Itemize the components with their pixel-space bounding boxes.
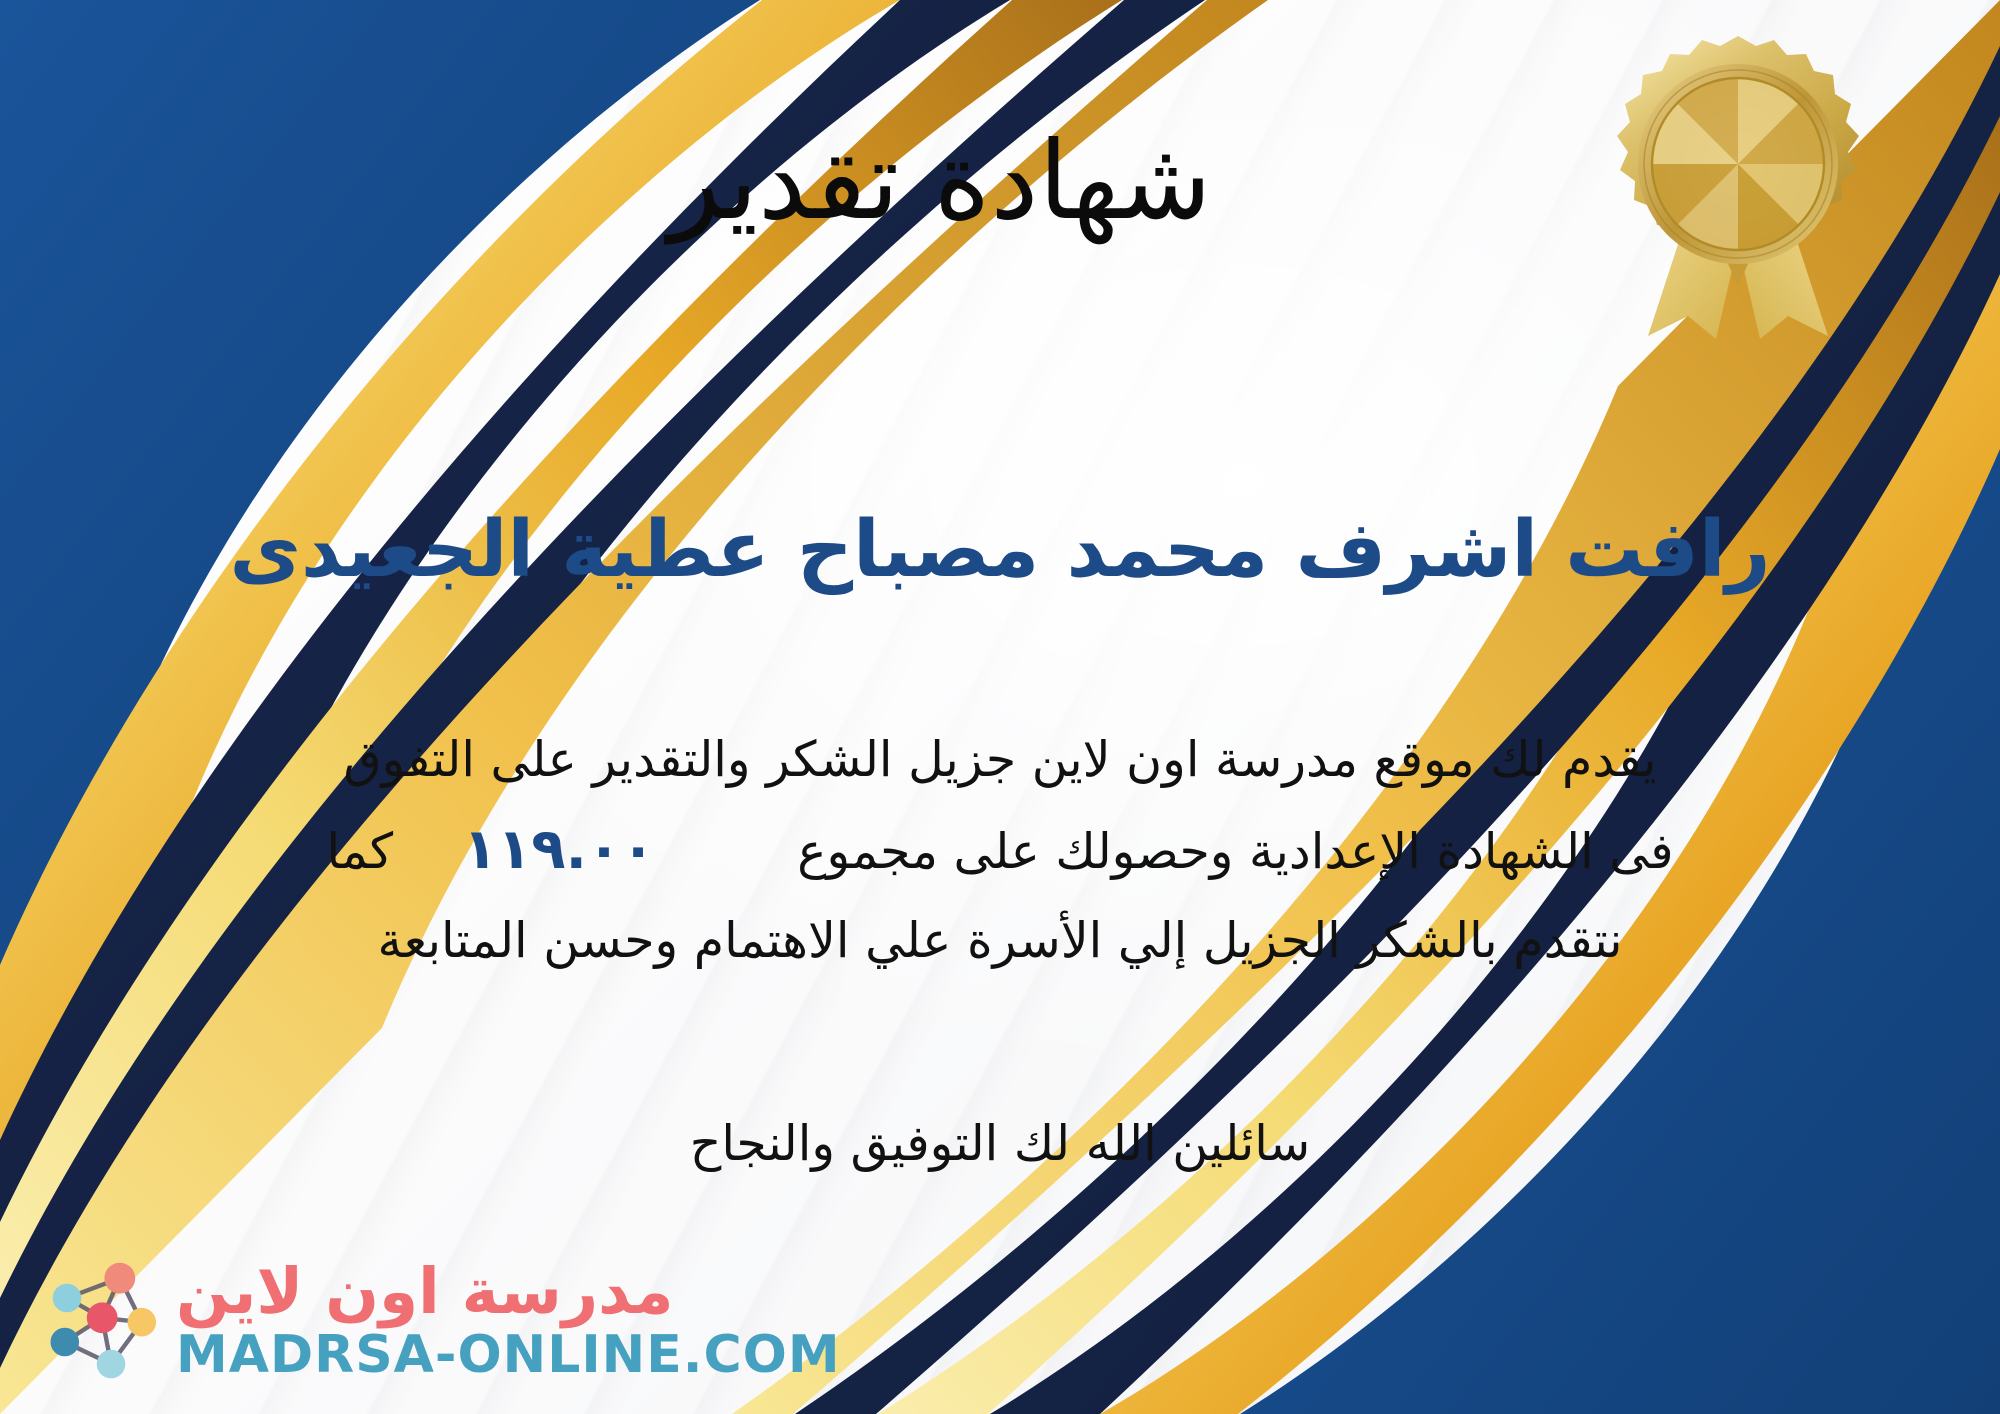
brand-text-group: مدرسة اون لاين MADRSA-ONLINE.COM <box>176 1260 841 1381</box>
network-nodes-icon <box>34 1254 166 1386</box>
total-score-value: ١١٩.٠٠ <box>441 817 677 882</box>
recipient-name: رافت اشرف محمد مصباح عطية الجعيدى <box>60 500 1940 601</box>
certificate-page: شهادة تقدير رافت اشرف محمد مصباح عطية ال… <box>0 0 2000 1414</box>
brand-domain: MADRSA-ONLINE.COM <box>176 1329 841 1381</box>
page-title: شهادة تقدير <box>0 118 2000 245</box>
brand-logo[interactable]: مدرسة اون لاين MADRSA-ONLINE.COM <box>34 1254 841 1386</box>
body-line-3: نتقدم بالشكر الجزيل إلي الأسرة علي الاهت… <box>70 899 1930 983</box>
body-line-2-suffix: كما <box>326 823 393 880</box>
body-line-2-prefix: فى الشهادة الإعدادية وحصولك على مجموع <box>797 823 1673 880</box>
closing-wish: سائلين الله لك التوفيق والنجاح <box>70 1105 1930 1183</box>
body-line-1: يقدم لك موقع مدرسة اون لاين جزيل الشكر و… <box>70 718 1930 802</box>
brand-name-arabic: مدرسة اون لاين <box>176 1260 673 1323</box>
certificate-body: يقدم لك موقع مدرسة اون لاين جزيل الشكر و… <box>70 718 1930 983</box>
body-line-2: فى الشهادة الإعدادية وحصولك على مجموع١١٩… <box>70 802 1930 898</box>
